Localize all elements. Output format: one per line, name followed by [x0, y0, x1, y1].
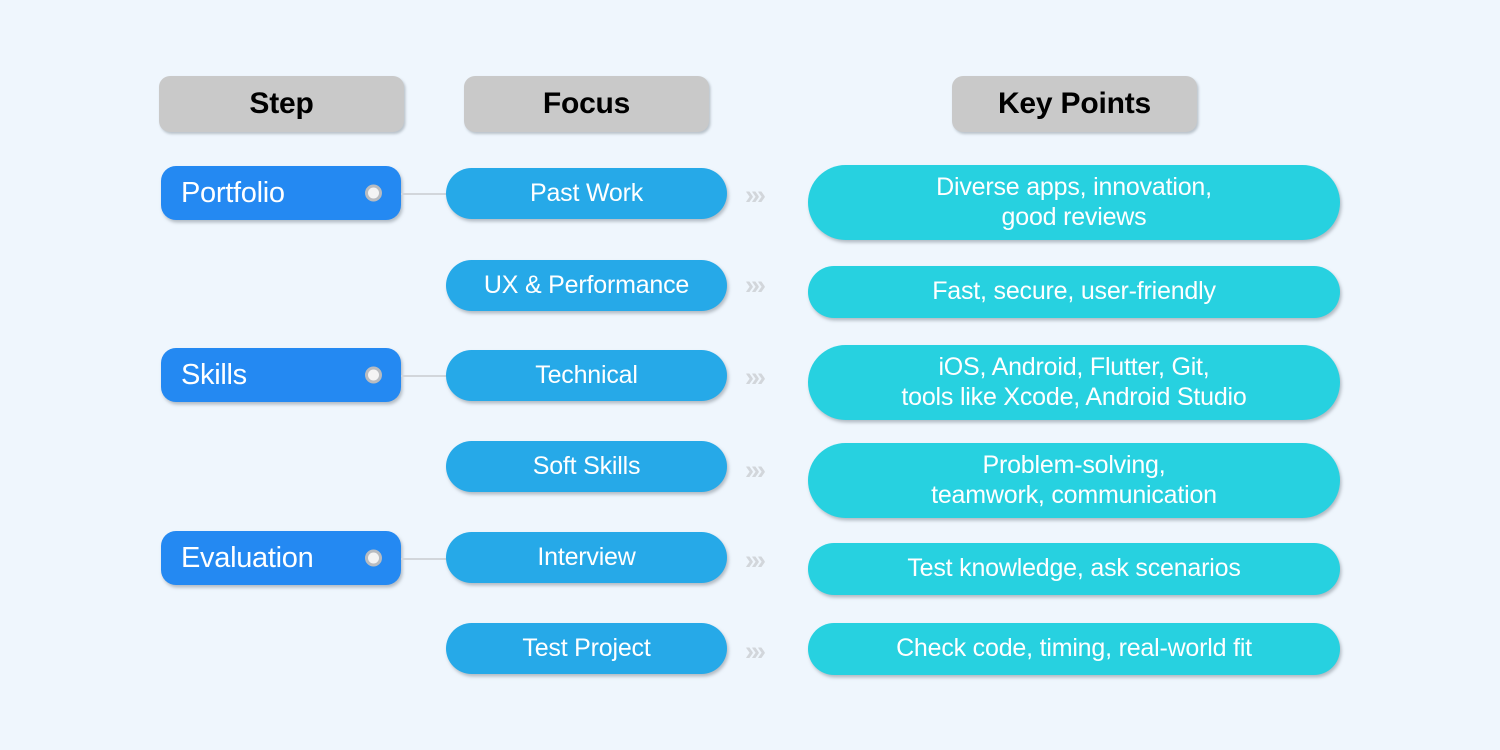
triple-chevron-right-icon: ›››: [745, 360, 763, 394]
key-points-line-1: Test knowledge, ask scenarios: [907, 554, 1240, 582]
key-points-line-2: tools like Xcode, Android Studio: [901, 383, 1246, 411]
focus-pill-label: Soft Skills: [533, 452, 641, 481]
key-points-pill[interactable]: Diverse apps, innovation,good reviews: [808, 165, 1340, 240]
key-points-line-1: iOS, Android, Flutter, Git,: [938, 353, 1209, 381]
flow-diagram-canvas: Step Focus Key Points PortfolioPast Work…: [0, 0, 1500, 750]
step-to-focus-connector: [401, 375, 448, 377]
circle-dot-icon: [365, 550, 382, 567]
key-points-pill[interactable]: Problem-solving,teamwork, communication: [808, 443, 1340, 518]
triple-chevron-right-icon: ›››: [745, 543, 763, 577]
focus-pill[interactable]: Test Project: [446, 623, 727, 674]
column-header-step: Step: [159, 76, 404, 132]
step-pill[interactable]: Portfolio: [161, 166, 401, 220]
key-points-pill-text: Diverse apps, innovation,good reviews: [936, 173, 1212, 232]
focus-pill[interactable]: Technical: [446, 350, 727, 401]
focus-pill[interactable]: Past Work: [446, 168, 727, 219]
key-points-line-1: Check code, timing, real-world fit: [896, 634, 1252, 662]
key-points-line-1: Problem-solving,: [983, 451, 1166, 479]
key-points-line-2: good reviews: [1002, 203, 1147, 231]
triple-chevron-right-icon: ›››: [745, 634, 763, 668]
circle-dot-icon: [365, 367, 382, 384]
step-pill[interactable]: Skills: [161, 348, 401, 402]
circle-dot-icon: [365, 185, 382, 202]
key-points-line-1: Diverse apps, innovation,: [936, 173, 1212, 201]
focus-pill[interactable]: Interview: [446, 532, 727, 583]
step-to-focus-connector: [401, 193, 448, 195]
key-points-pill-text: Problem-solving,teamwork, communication: [931, 451, 1217, 510]
triple-chevron-right-icon: ›››: [745, 453, 763, 487]
key-points-pill[interactable]: Check code, timing, real-world fit: [808, 623, 1340, 675]
step-pill-label: Evaluation: [181, 542, 313, 575]
key-points-pill[interactable]: iOS, Android, Flutter, Git,tools like Xc…: [808, 345, 1340, 420]
focus-pill-label: Past Work: [530, 179, 643, 208]
triple-chevron-right-icon: ›››: [745, 268, 763, 302]
column-header-key-points: Key Points: [952, 76, 1197, 132]
focus-pill-label: Interview: [537, 543, 635, 572]
key-points-pill-text: Test knowledge, ask scenarios: [907, 554, 1240, 584]
focus-pill[interactable]: Soft Skills: [446, 441, 727, 492]
key-points-line-2: teamwork, communication: [931, 481, 1217, 509]
focus-pill-label: Test Project: [522, 634, 650, 663]
column-header-key-points-label: Key Points: [998, 87, 1151, 121]
key-points-pill[interactable]: Test knowledge, ask scenarios: [808, 543, 1340, 595]
focus-pill-label: Technical: [535, 361, 637, 390]
triple-chevron-right-icon: ›››: [745, 178, 763, 212]
column-header-focus: Focus: [464, 76, 709, 132]
key-points-pill-text: iOS, Android, Flutter, Git,tools like Xc…: [901, 353, 1246, 412]
focus-pill[interactable]: UX & Performance: [446, 260, 727, 311]
key-points-pill-text: Check code, timing, real-world fit: [896, 634, 1252, 664]
column-header-step-label: Step: [249, 87, 313, 121]
step-pill-label: Portfolio: [181, 177, 285, 210]
focus-pill-label: UX & Performance: [484, 271, 689, 300]
step-pill[interactable]: Evaluation: [161, 531, 401, 585]
column-header-focus-label: Focus: [543, 87, 630, 121]
key-points-line-1: Fast, secure, user-friendly: [932, 277, 1216, 305]
step-pill-label: Skills: [181, 359, 247, 392]
key-points-pill[interactable]: Fast, secure, user-friendly: [808, 266, 1340, 318]
key-points-pill-text: Fast, secure, user-friendly: [932, 277, 1216, 307]
step-to-focus-connector: [401, 558, 448, 560]
